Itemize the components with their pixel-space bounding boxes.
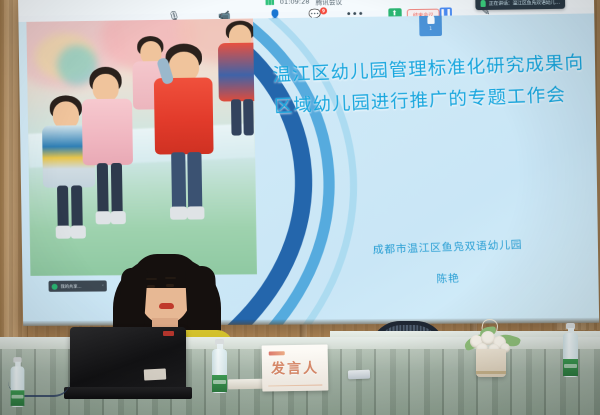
slide-presenter: 陈艳: [325, 267, 572, 291]
laptop-lid: [70, 327, 186, 391]
vase: [476, 349, 506, 377]
placard-text: 发言人: [271, 358, 319, 379]
mic-active-icon: [481, 0, 486, 7]
child-figure: [218, 20, 257, 151]
bottle-label: [212, 375, 227, 392]
laptop-logo: [163, 331, 174, 336]
collapse-chevron-icon[interactable]: ‹: [102, 283, 104, 288]
laptop: [64, 327, 190, 401]
lips: [159, 303, 174, 309]
child-figure: [153, 43, 219, 235]
water-bottle-left: [11, 357, 25, 407]
laptop-base: [64, 387, 192, 399]
chat-unread-badge: 9: [320, 7, 327, 14]
share-name-bar[interactable]: 我的共享… ‹: [48, 280, 106, 291]
bottle-label: [563, 359, 578, 376]
bottle-label: [11, 390, 25, 406]
photo-scene: ▮▮▮ 01:09:28 腾讯会议 🎙 静音 ▾ 📹 停止视频 ▾: [0, 0, 600, 415]
speaking-toast-text: 正在讲话：温江区鱼凫双语幼儿…: [489, 0, 560, 7]
pinned-participant-tile[interactable]: 1: [419, 13, 442, 36]
laptop-sticker: [144, 368, 167, 380]
share-name-text: 我的共享…: [61, 283, 82, 289]
placard-rule: [268, 384, 322, 386]
smartphone: [348, 370, 370, 380]
flower-vase: [460, 321, 522, 377]
pinned-tile-label: 1: [429, 26, 432, 31]
eye: [147, 285, 155, 288]
bottle-body: [563, 333, 578, 377]
mic-muted-icon: [427, 15, 434, 24]
mic-on-icon: [52, 283, 58, 289]
eyebrow: [165, 277, 176, 279]
bottle-body: [11, 366, 25, 406]
eye: [166, 284, 174, 287]
child-figure: [79, 66, 138, 243]
placard-logo: [269, 351, 285, 355]
children-photo: [26, 14, 257, 275]
eyebrow: [146, 278, 157, 280]
bottle-body: [212, 349, 227, 393]
water-bottle-right: [563, 323, 578, 377]
slide-title: 温江区幼儿园管理标准化研究成果向区域幼儿园进行推广的专题工作会: [272, 48, 592, 123]
slide-organization: 成都市温江区鱼凫双语幼儿园: [324, 232, 571, 263]
meeting-app-name: 腾讯会议: [316, 0, 343, 6]
meeting-timer: 01:09:28: [280, 0, 310, 6]
signal-icon: ▮▮▮: [265, 0, 274, 6]
speaker-placard: 发言人: [262, 344, 329, 391]
speaking-toast: 正在讲话：温江区鱼凫双语幼儿…: [475, 0, 565, 10]
water-bottle-center: [212, 339, 227, 393]
